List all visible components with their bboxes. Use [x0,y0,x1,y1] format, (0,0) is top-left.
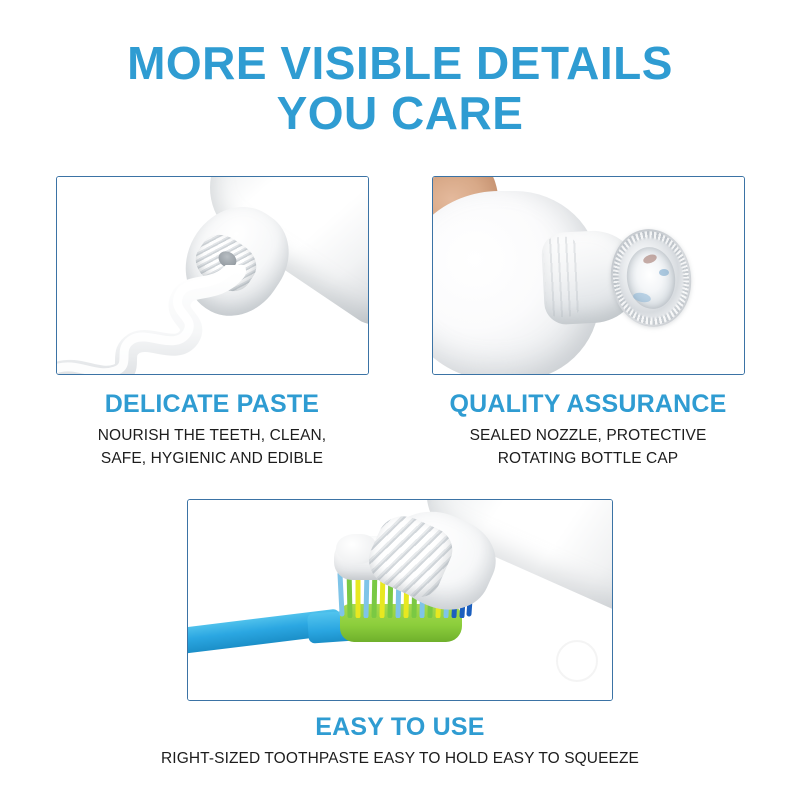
feature-subtitle-quality-assurance: SEALED NOZZLE, PROTECTIVE ROTATING BOTTL… [422,424,754,470]
feature-subtitle-line: SAFE, HYGIENIC AND EDIBLE [46,447,378,470]
feature-title-easy-to-use: EASY TO USE [100,713,700,742]
bottle-neck-ribs [543,236,581,318]
photo-delicate-paste [57,177,368,374]
feature-subtitle-line: NOURISH THE TEETH, CLEAN, [46,424,378,447]
paste-squiggle-icon [57,265,254,374]
caption-quality-assurance: QUALITY ASSURANCE SEALED NOZZLE, PROTECT… [422,390,754,470]
feature-subtitle-line: SEALED NOZZLE, PROTECTIVE [422,424,754,447]
feature-title-delicate-paste: DELICATE PASTE [46,390,378,419]
caption-easy-to-use: EASY TO USE RIGHT-SIZED TOOTHPASTE EASY … [100,713,700,770]
headline-line-2: YOU CARE [0,88,800,138]
feature-subtitle-easy-to-use: RIGHT-SIZED TOOTHPASTE EASY TO HOLD EASY… [100,747,700,770]
feature-subtitle-delicate-paste: NOURISH THE TEETH, CLEAN, SAFE, HYGIENIC… [46,424,378,470]
photo-watermark [556,640,598,682]
photo-easy-to-use [188,500,612,700]
nozzle-highlight [659,269,669,276]
feature-subtitle-line: RIGHT-SIZED TOOTHPASTE EASY TO HOLD EASY… [100,747,700,770]
caption-delicate-paste: DELICATE PASTE NOURISH THE TEETH, CLEAN,… [46,390,378,470]
feature-card-quality-assurance [432,176,745,375]
feature-card-delicate-paste [56,176,369,375]
feature-card-easy-to-use [187,499,613,701]
page-title: MORE VISIBLE DETAILS YOU CARE [0,38,800,138]
feature-title-quality-assurance: QUALITY ASSURANCE [422,390,754,419]
photo-quality-assurance [433,177,744,374]
feature-subtitle-line: ROTATING BOTTLE CAP [422,447,754,470]
headline-line-1: MORE VISIBLE DETAILS [0,38,800,88]
